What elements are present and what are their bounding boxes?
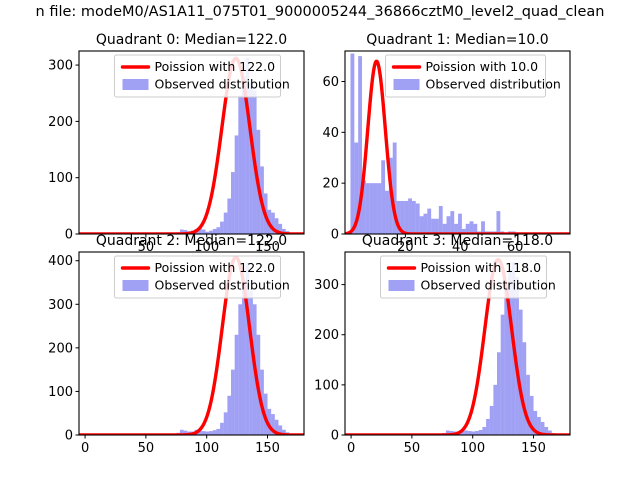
- plot-canvas: Quadrant 0: Median=122.05010015001002003…: [0, 0, 640, 480]
- histogram-bar: [220, 423, 224, 435]
- histogram-bar: [519, 310, 523, 435]
- y-tick-label: 60: [322, 75, 339, 90]
- histogram-bar: [479, 430, 483, 435]
- histogram-bar: [447, 216, 451, 234]
- histogram-bar: [439, 206, 443, 234]
- histogram-bar: [227, 396, 231, 435]
- histogram-bar: [475, 431, 479, 435]
- histogram-bar: [450, 211, 454, 234]
- histogram-bar: [213, 430, 217, 435]
- y-tick-label: 300: [48, 59, 73, 74]
- legend: Poission with 118.0Observed distribution: [381, 256, 556, 298]
- histogram-bar: [482, 427, 486, 435]
- legend: Poission with 10.0Observed distribution: [386, 55, 561, 97]
- y-tick-label: 200: [48, 341, 73, 356]
- histogram-bar: [235, 135, 239, 234]
- subplot-quadrant-2: Quadrant 2: Median=122.00501001500100200…: [48, 233, 304, 456]
- x-tick-label: 150: [255, 441, 280, 456]
- x-tick-label: 50: [404, 441, 421, 456]
- histogram-bar: [420, 216, 424, 234]
- histogram-bar: [404, 201, 408, 234]
- y-tick-label: 0: [65, 429, 73, 444]
- histogram-bar: [366, 183, 370, 234]
- histogram-bar: [497, 352, 501, 435]
- histogram-bar: [231, 370, 235, 435]
- histogram-bar: [493, 385, 497, 435]
- subplot-quadrant-3: Quadrant 3: Median=118.00501001500100200…: [314, 233, 570, 456]
- legend-label-fit: Poission with 122.0: [155, 260, 276, 275]
- legend-label-fit: Poission with 118.0: [421, 260, 542, 275]
- y-tick-label: 200: [48, 115, 73, 130]
- histogram-bar: [227, 199, 231, 234]
- y-tick-label: 40: [322, 126, 339, 141]
- subplot-title: Quadrant 0: Median=122.0: [96, 32, 287, 48]
- histogram-bar: [370, 183, 374, 234]
- x-tick-label: 100: [194, 441, 219, 456]
- y-tick-label: 100: [48, 171, 73, 186]
- histogram-bar: [490, 406, 494, 435]
- histogram-bar: [381, 160, 385, 234]
- histogram-bar: [231, 172, 235, 234]
- histogram-bar: [501, 315, 505, 435]
- histogram-bar: [496, 211, 500, 234]
- legend-label-fit: Poission with 122.0: [155, 59, 276, 74]
- x-tick-label: 50: [138, 441, 155, 456]
- y-tick-label: 300: [48, 298, 73, 313]
- figure-suptitle-text: n file: modeM0/AS1A11_075T01_9000005244_…: [36, 4, 605, 20]
- legend-swatch-hist: [123, 79, 149, 90]
- y-tick-label: 20: [322, 177, 339, 192]
- legend-label-hist: Observed distribution: [421, 278, 556, 293]
- x-tick-label: 100: [460, 441, 485, 456]
- histogram-bar: [427, 209, 431, 234]
- legend: Poission with 122.0Observed distribution: [115, 256, 290, 298]
- histogram-bar: [423, 214, 427, 234]
- y-tick-label: 400: [48, 254, 73, 269]
- histogram-bar: [235, 335, 239, 435]
- histogram-bar: [249, 291, 253, 435]
- histogram-bar: [504, 290, 508, 435]
- y-tick-label: 200: [314, 328, 339, 343]
- legend-label-hist: Observed distribution: [155, 77, 290, 92]
- matplotlib-figure: n file: modeM0/AS1A11_075T01_9000005244_…: [0, 0, 640, 480]
- legend-swatch-hist: [389, 280, 415, 291]
- histogram-bar: [209, 431, 213, 435]
- legend-swatch-hist: [394, 79, 420, 90]
- figure-suptitle: n file: modeM0/AS1A11_075T01_9000005244_…: [0, 4, 640, 20]
- legend-label-hist: Observed distribution: [426, 77, 561, 92]
- legend-swatch-hist: [123, 280, 149, 291]
- histogram-bar: [216, 429, 220, 435]
- histogram-bar: [523, 342, 527, 435]
- x-tick-label: 0: [81, 441, 89, 456]
- y-tick-label: 300: [314, 278, 339, 293]
- y-tick-label: 0: [331, 228, 339, 243]
- histogram-bar: [238, 95, 242, 234]
- histogram-bar: [435, 219, 439, 234]
- histogram-bar: [486, 419, 490, 435]
- subplot-title: Quadrant 1: Median=10.0: [366, 32, 548, 48]
- histogram-bar: [350, 54, 354, 234]
- histogram-bar: [224, 213, 228, 234]
- histogram-bar: [238, 304, 242, 435]
- legend: Poission with 122.0Observed distribution: [115, 55, 290, 97]
- histogram-bar: [202, 431, 206, 435]
- histogram-bar: [385, 191, 389, 234]
- histogram-bar: [377, 183, 381, 234]
- x-tick-label: 150: [521, 441, 546, 456]
- y-tick-label: 100: [48, 385, 73, 400]
- subplot-quadrant-1: Quadrant 1: Median=10.02040600204060Pois…: [322, 32, 570, 255]
- y-tick-label: 100: [314, 378, 339, 393]
- subplot-title: Quadrant 2: Median=122.0: [96, 233, 287, 249]
- subplot-title: Quadrant 3: Median=118.0: [362, 233, 553, 249]
- histogram-bar: [464, 430, 468, 435]
- legend-label-hist: Observed distribution: [155, 278, 290, 293]
- y-tick-label: 0: [331, 429, 339, 444]
- histogram-bar: [431, 219, 435, 234]
- histogram-bar: [408, 198, 412, 234]
- subplot-quadrant-0: Quadrant 0: Median=122.05010015001002003…: [48, 32, 304, 255]
- histogram-bar: [458, 214, 462, 234]
- histogram-bar: [224, 412, 228, 435]
- y-tick-label: 0: [65, 228, 73, 243]
- histogram-bar: [374, 183, 378, 234]
- legend-label-fit: Poission with 10.0: [426, 59, 539, 74]
- x-tick-label: 0: [347, 441, 355, 456]
- histogram-bar: [416, 204, 420, 235]
- histogram-bar: [412, 201, 416, 234]
- histogram-bar: [468, 431, 472, 435]
